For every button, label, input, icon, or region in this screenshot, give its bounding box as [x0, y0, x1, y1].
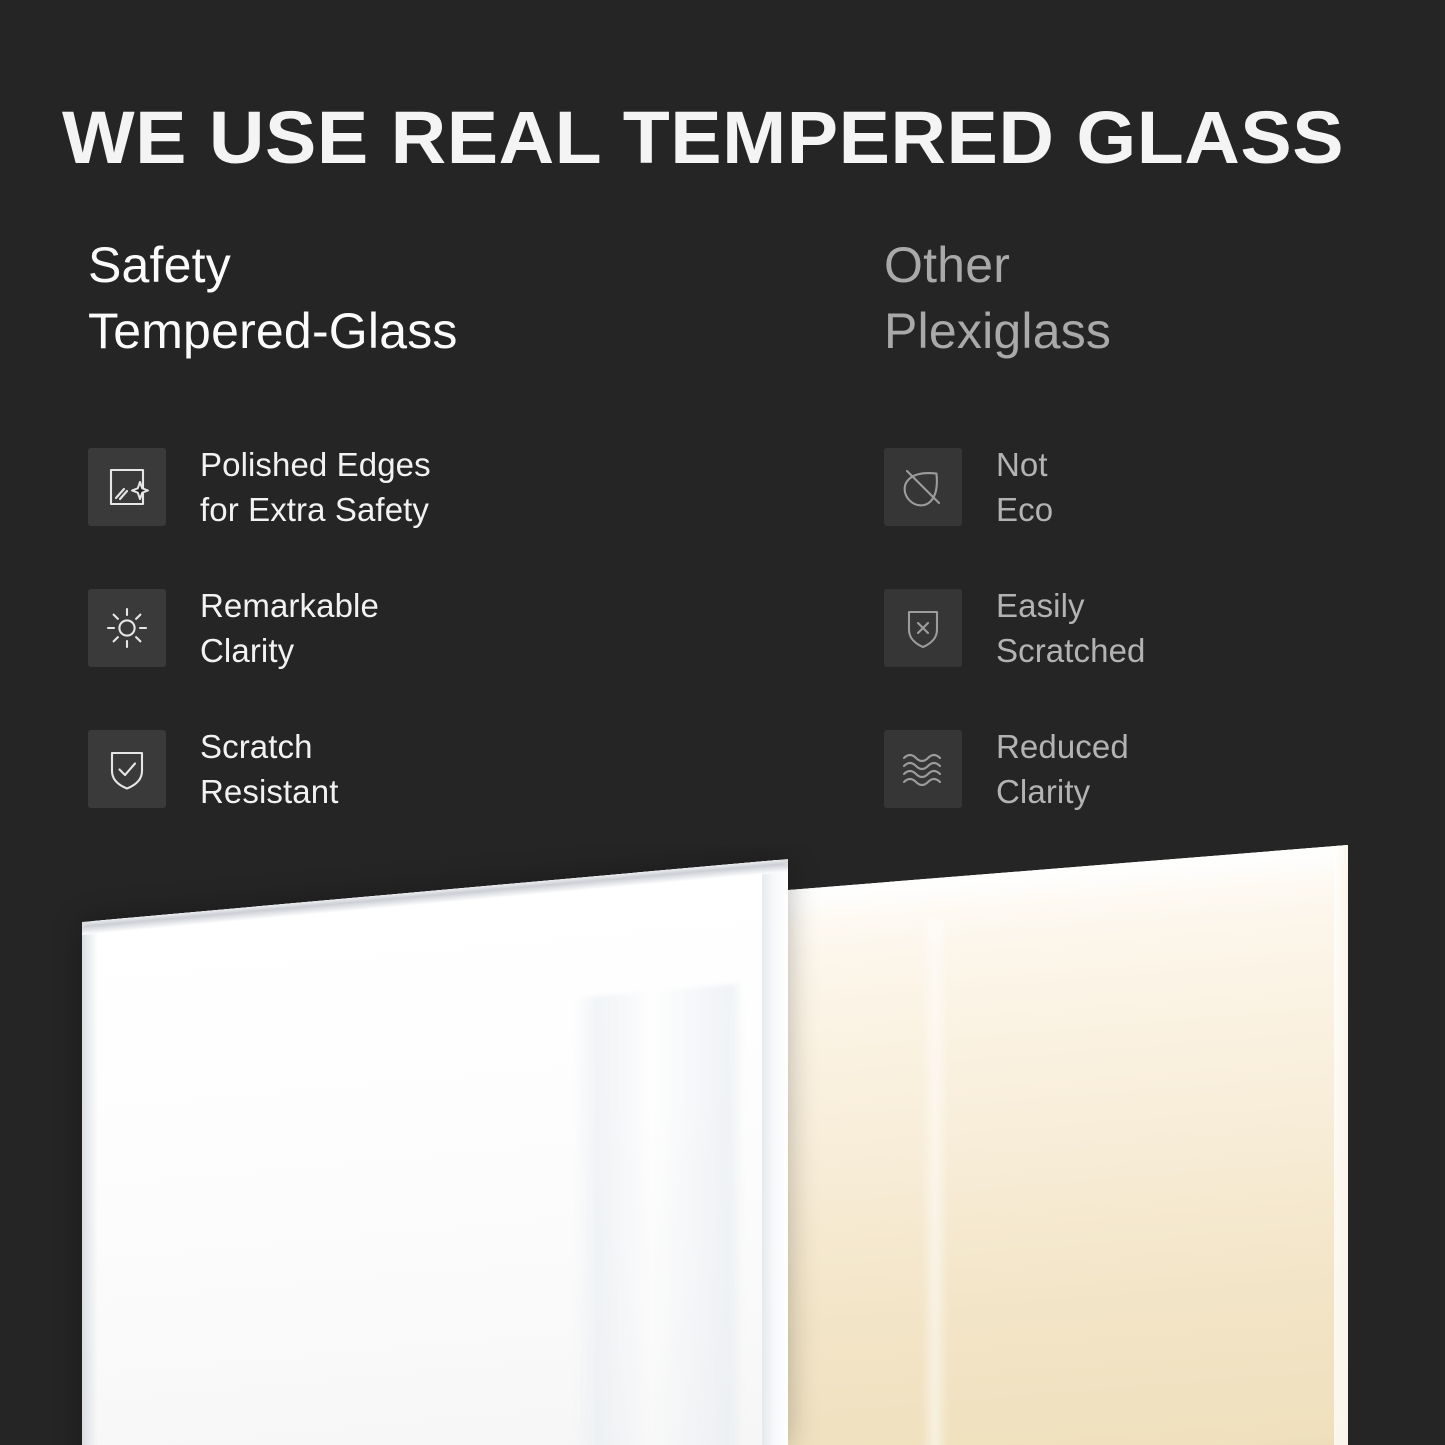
column-title: Other Plexiglass [884, 232, 1444, 364]
column-plexiglass: Other Plexiglass Not Eco [884, 232, 1444, 364]
panel-top-highlight [782, 845, 1348, 925]
sun-brightness-icon [88, 589, 166, 667]
glass-panels-photo [0, 845, 1445, 1445]
feature-easily-scratched: Easily Scratched [884, 589, 1444, 667]
wavy-lines-icon [884, 730, 962, 808]
page-title: WE USE REAL TEMPERED GLASS [62, 92, 1445, 184]
promo-graphic: WE USE REAL TEMPERED GLASS Safety Temper… [0, 0, 1445, 1445]
feature-polished-edges: Polished Edges for Extra Safety [88, 448, 648, 526]
polished-glass-sparkle-icon [88, 448, 166, 526]
feature-list-plexiglass: Not Eco Easily Scratched [884, 448, 1444, 808]
column-tempered-glass: Safety Tempered-Glass Polished Edges for… [88, 232, 648, 364]
panel-edge-highlight [1334, 845, 1348, 1445]
feature-label: Not Eco [996, 442, 1053, 532]
feature-not-eco: Not Eco [884, 448, 1444, 526]
panel-sheen [922, 917, 948, 1445]
panel-left-edge [82, 921, 98, 1445]
column-title: Safety Tempered-Glass [88, 232, 648, 364]
tempered-glass-panel [82, 859, 788, 1445]
feature-label: Scratch Resistant [200, 724, 338, 814]
shield-check-icon [88, 730, 166, 808]
feature-reduced-clarity: Reduced Clarity [884, 730, 1444, 808]
leaf-slashed-icon [884, 448, 962, 526]
comparison-columns: Safety Tempered-Glass Polished Edges for… [0, 232, 1445, 842]
feature-label: Remarkable Clarity [200, 583, 379, 673]
feature-label: Polished Edges for Extra Safety [200, 442, 431, 532]
feature-list-tempered-glass: Polished Edges for Extra Safety Remarkab… [88, 448, 648, 808]
feature-scratch-resistant: Scratch Resistant [88, 730, 648, 808]
panel-right-edge [762, 859, 788, 1445]
plexiglass-panel [782, 845, 1348, 1445]
feature-remarkable-clarity: Remarkable Clarity [88, 589, 648, 667]
panel-reflection [574, 983, 744, 1445]
feature-label: Reduced Clarity [996, 724, 1129, 814]
shield-x-icon [884, 589, 962, 667]
feature-label: Easily Scratched [996, 583, 1145, 673]
